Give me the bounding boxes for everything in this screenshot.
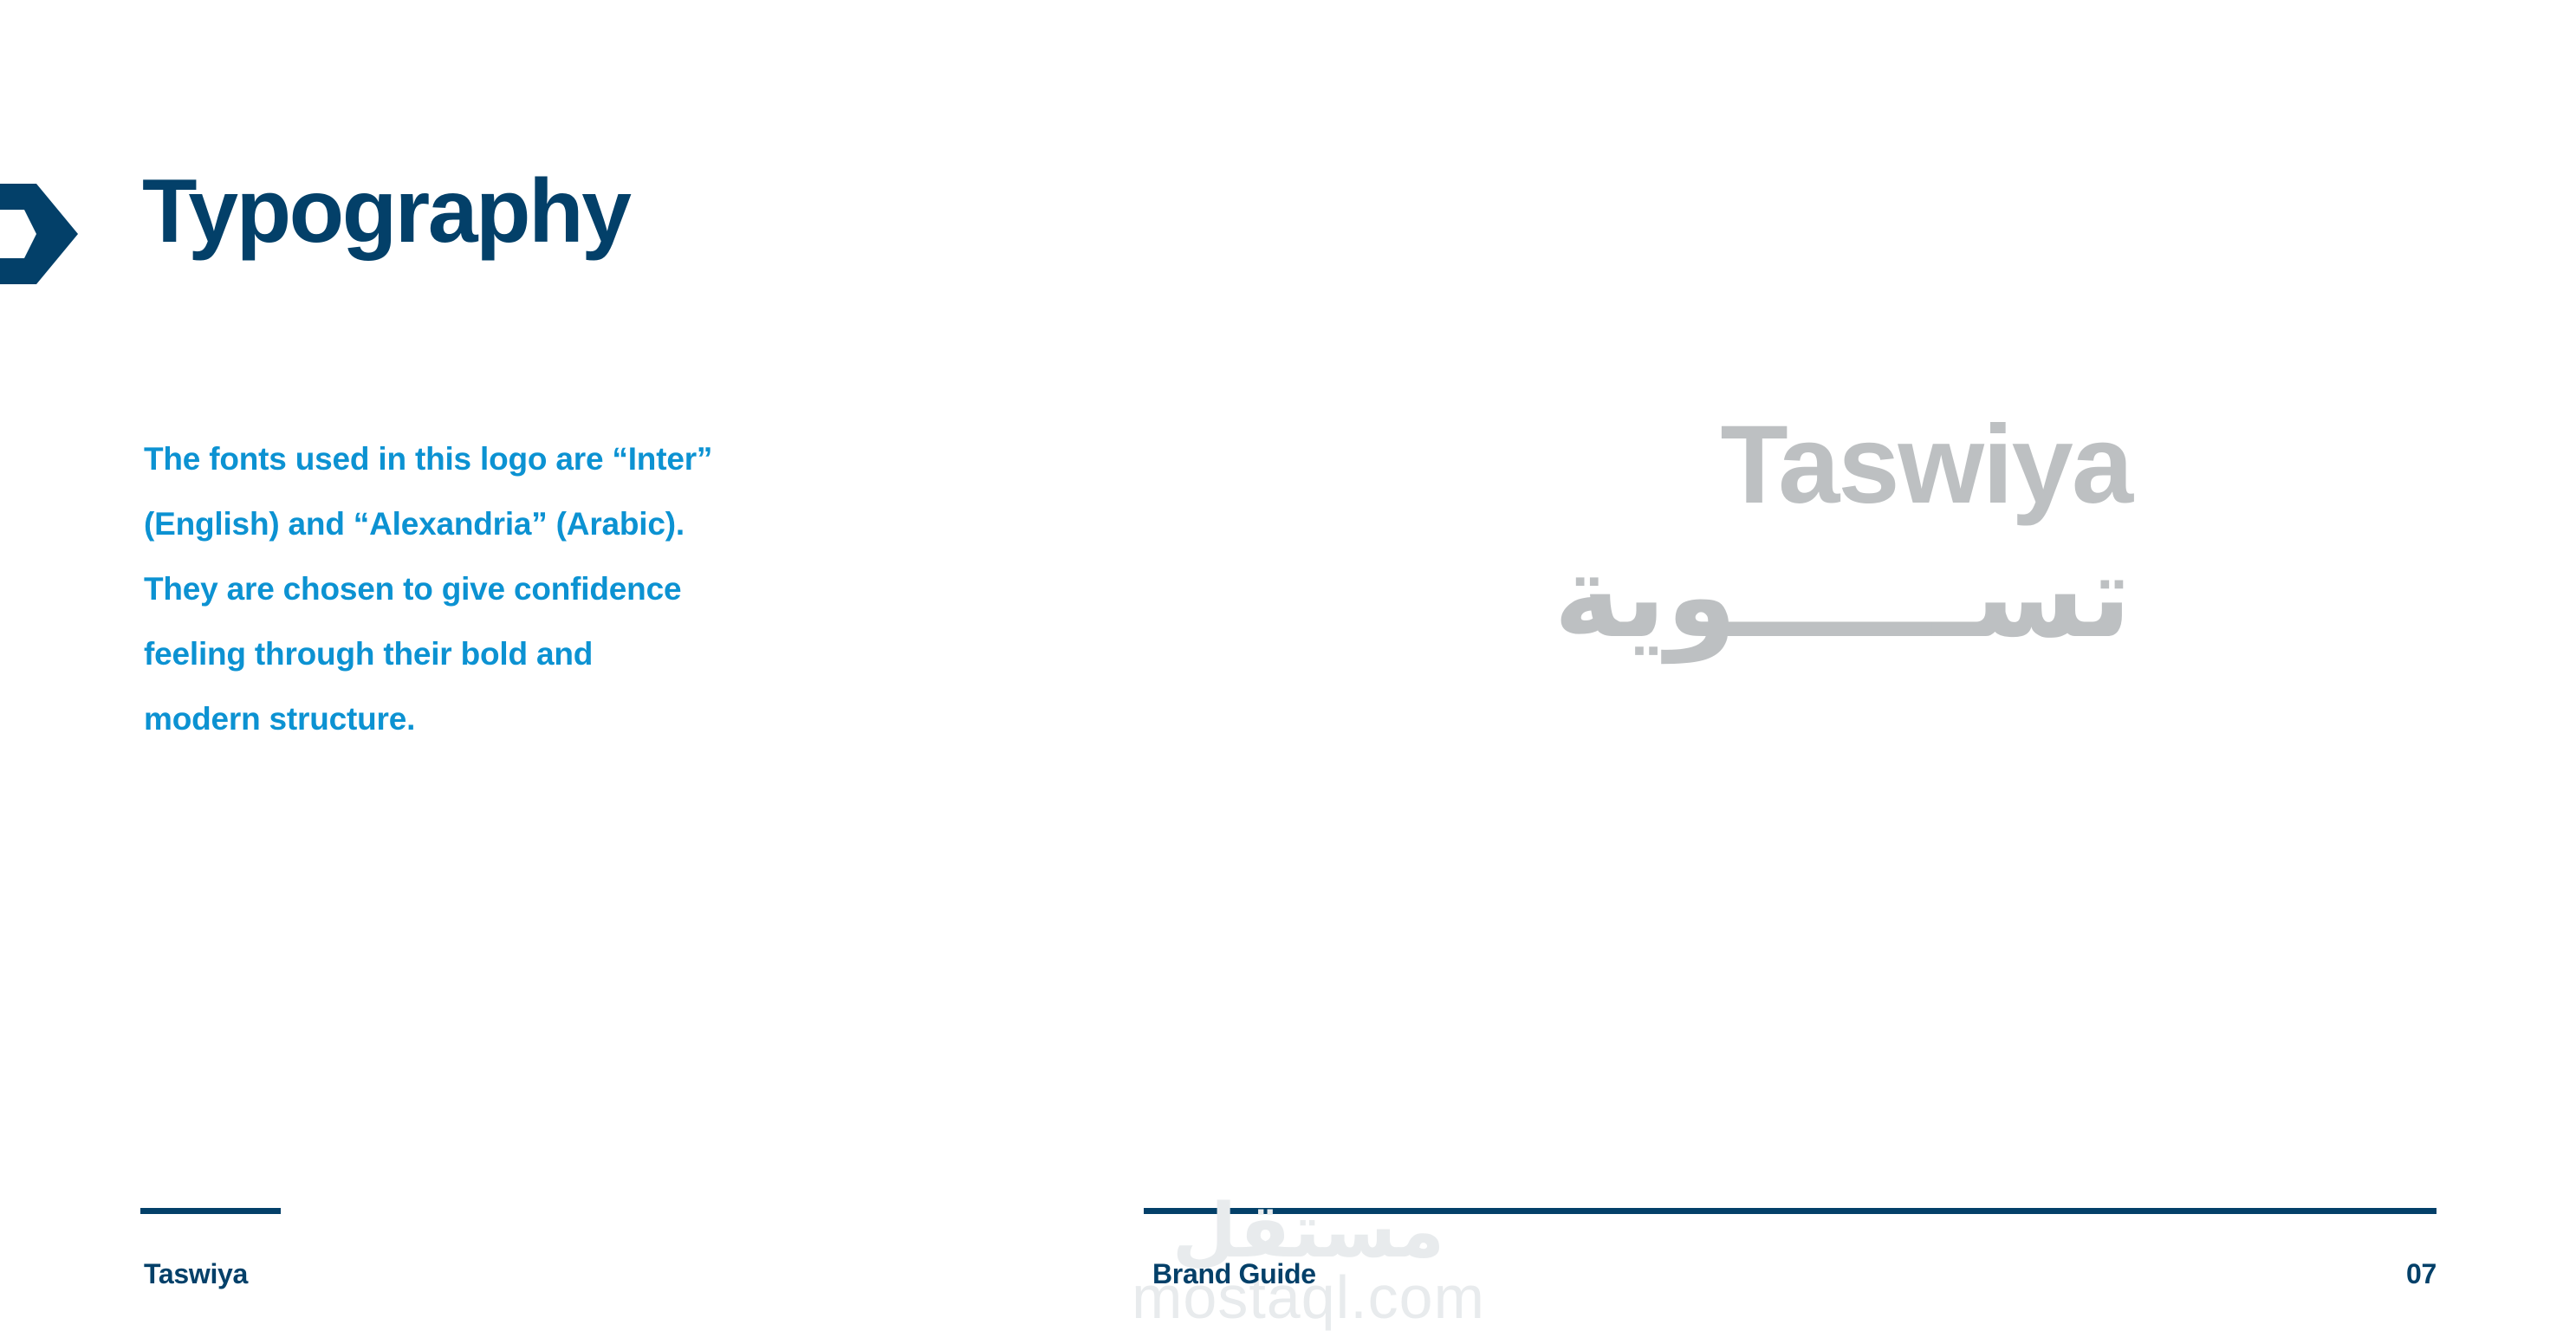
- footer-page-number: 07: [2406, 1258, 2436, 1290]
- specimen-latin-text: Taswiya: [1404, 407, 2132, 523]
- footer-rule-right: [1144, 1208, 2436, 1214]
- specimen-arabic-text: تســــــوية: [1404, 525, 2132, 668]
- slide-canvas: Typography The fonts used in this logo a…: [0, 0, 2576, 1344]
- intro-paragraph: The fonts used in this logo are “Inter” …: [144, 426, 1166, 751]
- typeface-specimen: Taswiya تســــــوية: [1404, 407, 2132, 668]
- arrow-outline-icon: [0, 184, 78, 284]
- page-title: Typography: [142, 166, 629, 256]
- footer-brand-label: Taswiya: [144, 1258, 248, 1290]
- footer-document-label: Brand Guide: [1152, 1258, 1316, 1290]
- footer-rule-left: [140, 1208, 281, 1214]
